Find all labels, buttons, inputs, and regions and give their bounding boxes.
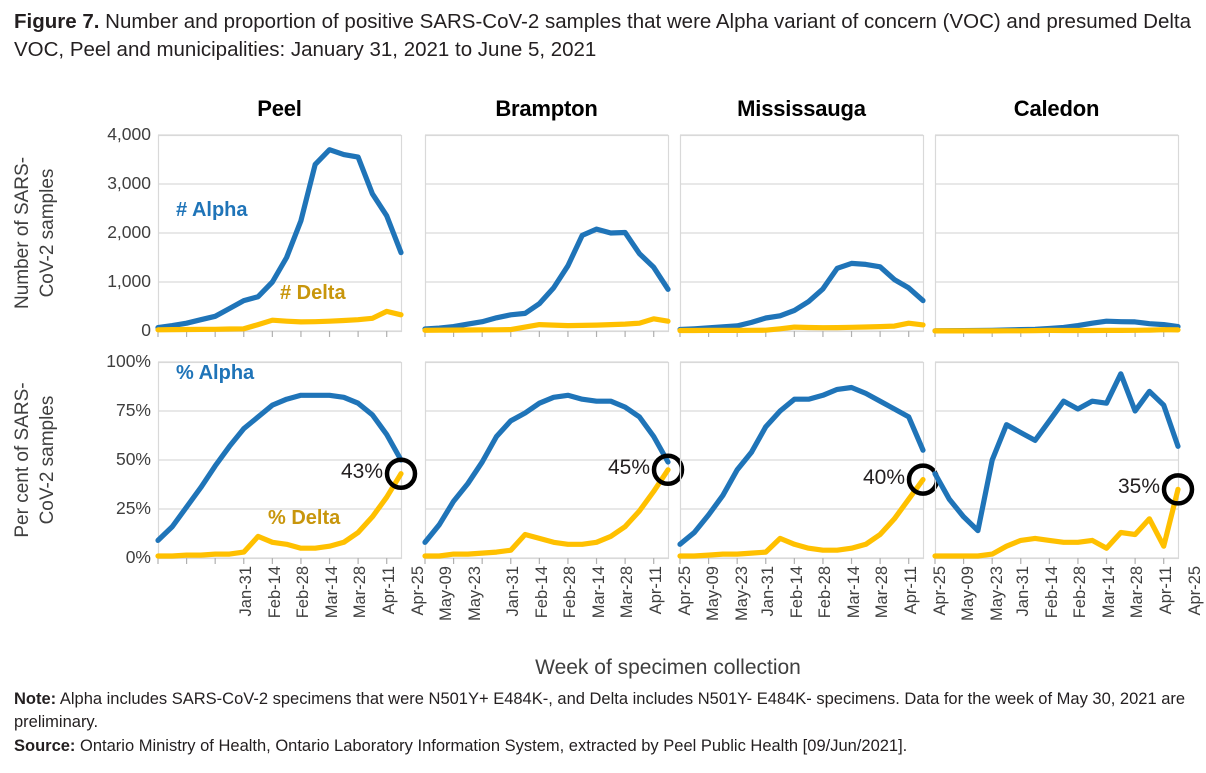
figure-footnotes: Note: Alpha includes SARS-CoV-2 specimen… — [14, 688, 1194, 758]
y-tick-percent-4: 100% — [55, 351, 151, 372]
x-tick-label-caledon-1: Feb-14 — [1043, 566, 1062, 638]
x-tick-label-peel-3: Mar-14 — [323, 566, 342, 638]
x-tick-label-peel-5: Apr-11 — [380, 566, 399, 638]
note-line: Note: Alpha includes SARS-CoV-2 specimen… — [14, 688, 1194, 735]
x-tick-label-brampton-4: Mar-28 — [618, 566, 637, 638]
x-tick-label-peel-1: Feb-14 — [266, 566, 285, 638]
y-tick-percent-1: 25% — [55, 498, 151, 519]
plot-counts-mississauga — [680, 135, 963, 371]
y-tick-percent-3: 75% — [55, 400, 151, 421]
x-tick-label-mississauga-0: Jan-31 — [759, 566, 778, 638]
x-tick-label-brampton-5: Apr-11 — [647, 566, 666, 638]
panel-title-caledon: Caledon — [935, 96, 1178, 122]
figure-chart: PeelBramptonMississaugaCaledonNumber of … — [0, 92, 1206, 672]
note-text: Alpha includes SARS-CoV-2 specimens that… — [14, 690, 1185, 731]
series-label-delta-count: # Delta — [280, 282, 346, 305]
annotation-value-peel: 43% — [283, 460, 383, 484]
y-tick-counts-4: 4,000 — [55, 124, 151, 145]
series-line-delta — [935, 330, 1178, 331]
x-tick-label-peel-4: Mar-28 — [351, 566, 370, 638]
annotation-value-brampton: 45% — [550, 456, 650, 480]
x-tick-label-brampton-3: Mar-14 — [590, 566, 609, 638]
panel-title-peel: Peel — [158, 96, 401, 122]
x-tick-label-caledon-4: Mar-28 — [1128, 566, 1147, 638]
plot-counts-peel — [158, 135, 441, 371]
figure-caption-text: Number and proportion of positive SARS-C… — [14, 10, 1191, 61]
x-tick-label-caledon-0: Jan-31 — [1014, 566, 1033, 638]
x-tick-label-caledon-3: Mar-14 — [1100, 566, 1119, 638]
annotation-value-caledon: 35% — [1060, 475, 1160, 499]
series-line-alpha — [425, 229, 668, 329]
series-line-alpha — [680, 263, 923, 329]
plot-counts-caledon — [935, 135, 1206, 371]
plot-percent-brampton — [425, 362, 708, 598]
y-tick-counts-1: 1,000 — [55, 271, 151, 292]
x-tick-label-mississauga-5: Apr-11 — [902, 566, 921, 638]
series-label-alpha-pct: % Alpha — [176, 362, 254, 385]
x-tick-label-brampton-1: Feb-14 — [533, 566, 552, 638]
y-tick-counts-3: 3,000 — [55, 173, 151, 194]
panel-title-mississauga: Mississauga — [680, 96, 923, 122]
x-tick-label-mississauga-4: Mar-28 — [873, 566, 892, 638]
figure-number: Figure 7. — [14, 10, 99, 33]
series-label-alpha-count: # Alpha — [176, 199, 248, 222]
x-tick-label-brampton-0: Jan-31 — [504, 566, 523, 638]
y-tick-counts-2: 2,000 — [55, 222, 151, 243]
figure-caption: Figure 7. Number and proportion of posit… — [14, 8, 1194, 65]
source-line: Source: Ontario Ministry of Health, Onta… — [14, 735, 1194, 758]
y-tick-counts-0: 0 — [55, 320, 151, 341]
y-axis-title-percent-line1: Per cent of SARS- — [12, 362, 34, 558]
x-tick-label-mississauga-1: Feb-14 — [788, 566, 807, 638]
x-tick-label-peel-0: Jan-31 — [237, 566, 256, 638]
annotation-value-mississauga: 40% — [805, 466, 905, 490]
x-tick-label-caledon-6: Apr-25 — [1186, 566, 1205, 638]
y-tick-percent-2: 50% — [55, 449, 151, 470]
series-line-delta — [680, 480, 923, 556]
y-axis-title-counts-line1: Number of SARS- — [12, 135, 34, 331]
x-tick-label-mississauga-3: Mar-14 — [845, 566, 864, 638]
panel-title-brampton: Brampton — [425, 96, 668, 122]
source-text: Ontario Ministry of Health, Ontario Labo… — [75, 737, 907, 755]
x-axis-title: Week of specimen collection — [158, 656, 1178, 680]
series-label-delta-pct: % Delta — [268, 507, 340, 530]
series-line-alpha — [935, 374, 1178, 531]
x-tick-label-peel-2: Feb-28 — [294, 566, 313, 638]
x-tick-label-caledon-5: Apr-11 — [1157, 566, 1176, 638]
source-label: Source: — [14, 737, 75, 755]
series-line-delta — [425, 470, 668, 556]
y-tick-percent-0: 0% — [55, 547, 151, 568]
plot-counts-brampton — [425, 135, 708, 371]
note-label: Note: — [14, 690, 56, 708]
x-tick-label-brampton-2: Feb-28 — [561, 566, 580, 638]
x-tick-label-mississauga-2: Feb-28 — [816, 566, 835, 638]
x-tick-label-caledon-2: Feb-28 — [1071, 566, 1090, 638]
